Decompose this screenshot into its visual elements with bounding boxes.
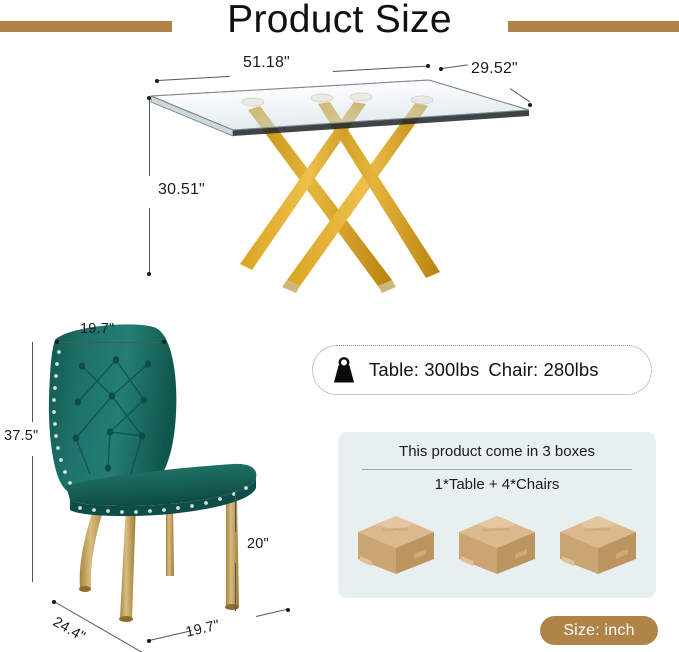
chair-height-line-2 — [32, 456, 33, 582]
size-unit-badge: Size: inch — [540, 616, 658, 645]
product-size-infographic: Product Size — [0, 0, 679, 652]
packaging-title: This product come in 3 boxes — [338, 443, 656, 460]
chair-height-label: 37.5" — [4, 428, 38, 444]
chair-back-width-dot-right — [162, 340, 166, 344]
chair-back-width-line — [57, 342, 164, 343]
chair-height-line — [32, 342, 33, 422]
table-height-dot-top — [147, 96, 151, 100]
table-width-label: 51.18" — [243, 54, 290, 72]
chair-illustration — [20, 318, 310, 643]
table-figure: 51.18" 29.52" 30.51" — [140, 58, 540, 298]
chair-seat-height-line-2 — [235, 563, 236, 611]
table-illustration — [140, 58, 540, 298]
table-width-dot-left — [155, 79, 159, 83]
cardboard-box-icon — [453, 510, 541, 580]
table-height-line-2 — [149, 208, 150, 274]
weight-capacity-callout: Table: 300lbsChair: 280lbs — [312, 345, 652, 395]
chair-figure: 19.7" 37.5" 20" 24.4" 19.7" — [20, 318, 310, 643]
chair-base-width-dot-left — [147, 639, 151, 643]
chair-back-width-label: 19.7" — [80, 321, 114, 337]
table-weight-label: Table: 300lbs — [369, 359, 479, 380]
chair-base-width-dot-right — [286, 608, 290, 612]
packaging-panel: This product come in 3 boxes 1*Table + 4… — [338, 432, 656, 598]
chair-depth-dot-start — [52, 600, 56, 604]
chair-weight-label: Chair: 280lbs — [488, 359, 598, 380]
cardboard-box-icon — [554, 510, 642, 580]
table-glass-top — [151, 80, 529, 136]
table-width-dot-right — [426, 64, 430, 68]
packaging-box-row — [352, 508, 642, 580]
table-depth-dot-start — [439, 67, 443, 71]
weight-icon — [330, 357, 358, 384]
chair-seat-height-label: 20" — [247, 536, 269, 552]
packaging-contents: 1*Table + 4*Chairs — [338, 476, 656, 493]
page-title: Product Size — [0, 0, 679, 42]
table-height-label: 30.51" — [158, 181, 205, 199]
header: Product Size — [0, 0, 679, 48]
table-depth-dot-end — [528, 103, 532, 107]
chair-back-width-dot-left — [55, 340, 59, 344]
table-height-line — [149, 98, 150, 176]
chair-seat-height-line — [235, 490, 236, 532]
cardboard-box-icon — [352, 510, 440, 580]
table-height-dot-bottom — [147, 272, 151, 276]
packaging-divider — [362, 469, 632, 470]
weight-capacity-text: Table: 300lbsChair: 280lbs — [369, 359, 599, 381]
table-depth-label: 29.52" — [471, 60, 518, 78]
